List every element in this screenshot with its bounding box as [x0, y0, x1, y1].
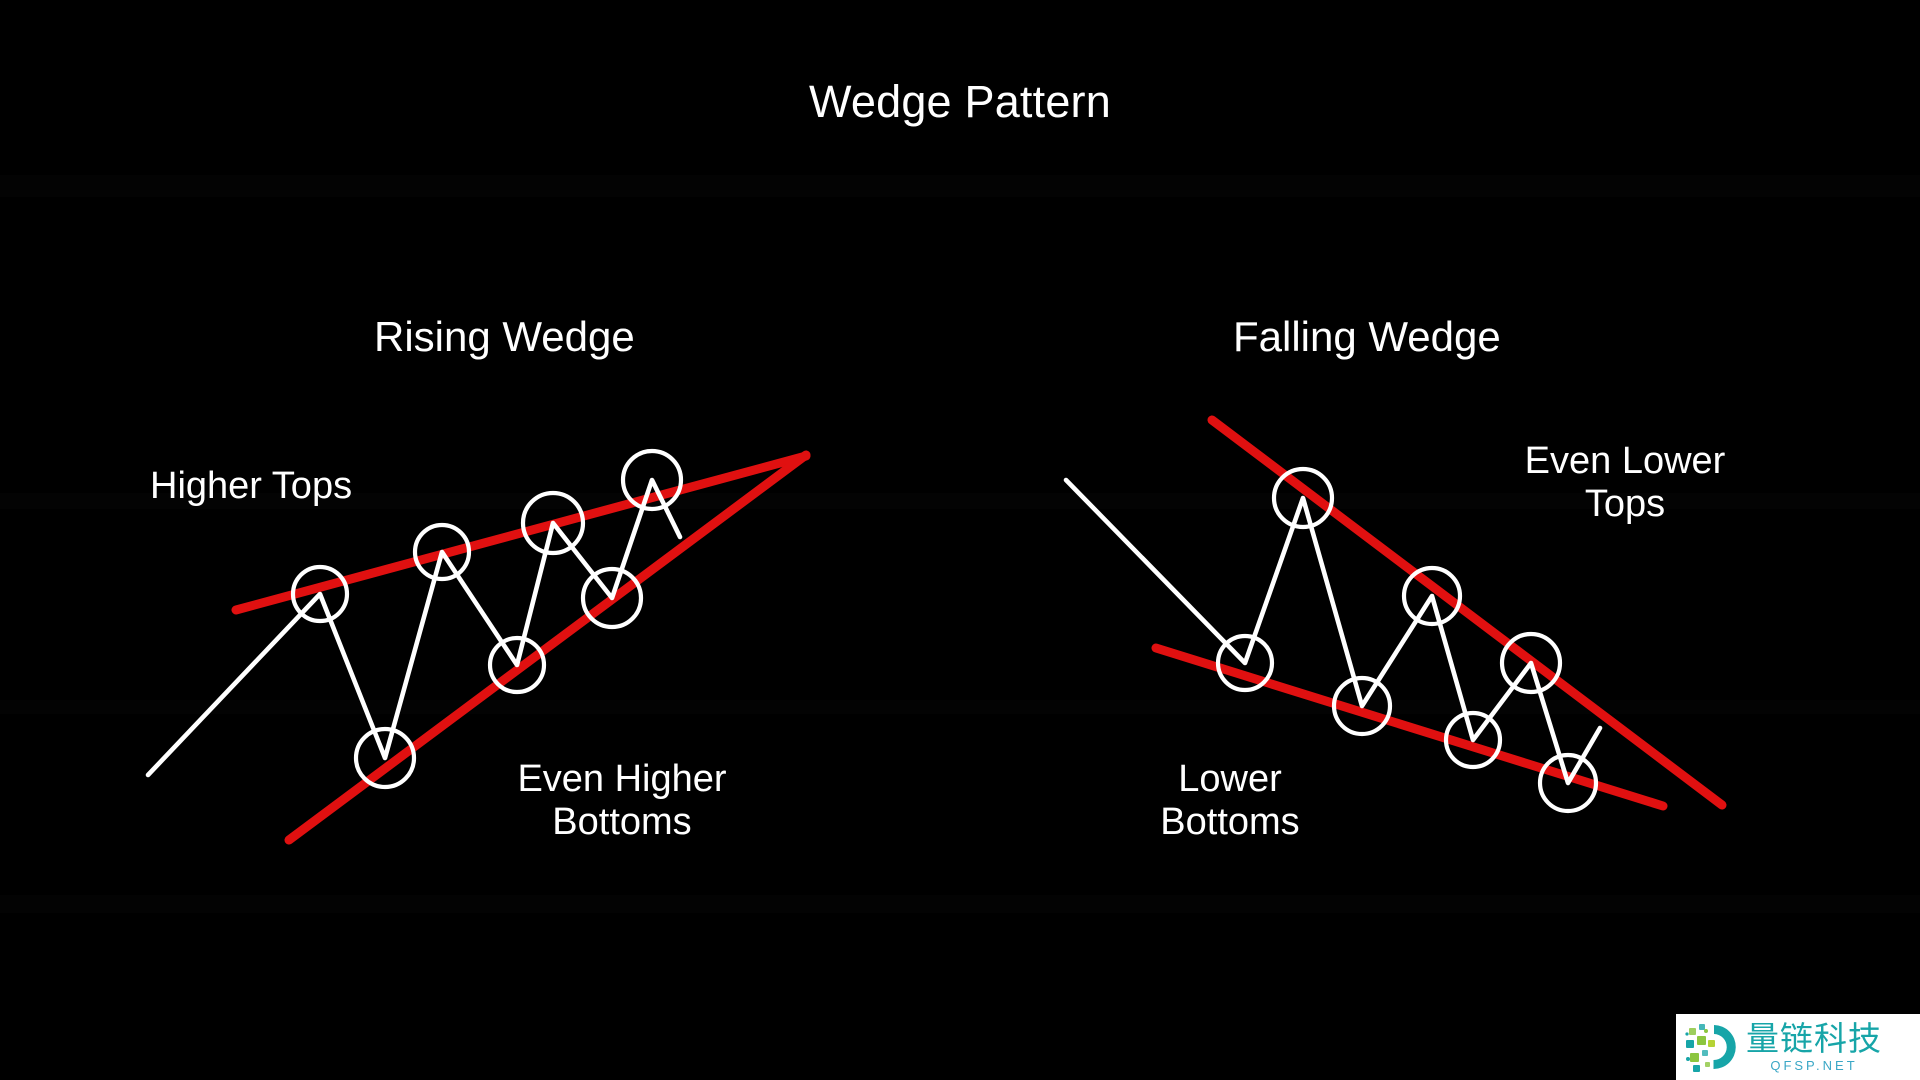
- price-line: [148, 480, 680, 775]
- slide-canvas: Wedge Pattern Rising Wedge Falling Wedge…: [0, 0, 1920, 1080]
- watermark-brand-en: QFSP.NET: [1746, 1059, 1882, 1072]
- watermark-brand-cn: 量链科技: [1746, 1022, 1882, 1055]
- watermark: 量链科技 QFSP.NET: [1676, 1014, 1920, 1080]
- chart-falling-wedge: [1066, 420, 1722, 811]
- price-line: [1066, 480, 1600, 783]
- trendline-lower-support: [1156, 648, 1663, 806]
- watermark-text: 量链科技 QFSP.NET: [1746, 1022, 1882, 1072]
- trendline-upper-resistance: [236, 456, 806, 610]
- blockchain-node-logo-icon: [1684, 1019, 1740, 1075]
- wedge-pattern-chart-layer: [0, 0, 1920, 1080]
- chart-rising-wedge: [148, 451, 806, 840]
